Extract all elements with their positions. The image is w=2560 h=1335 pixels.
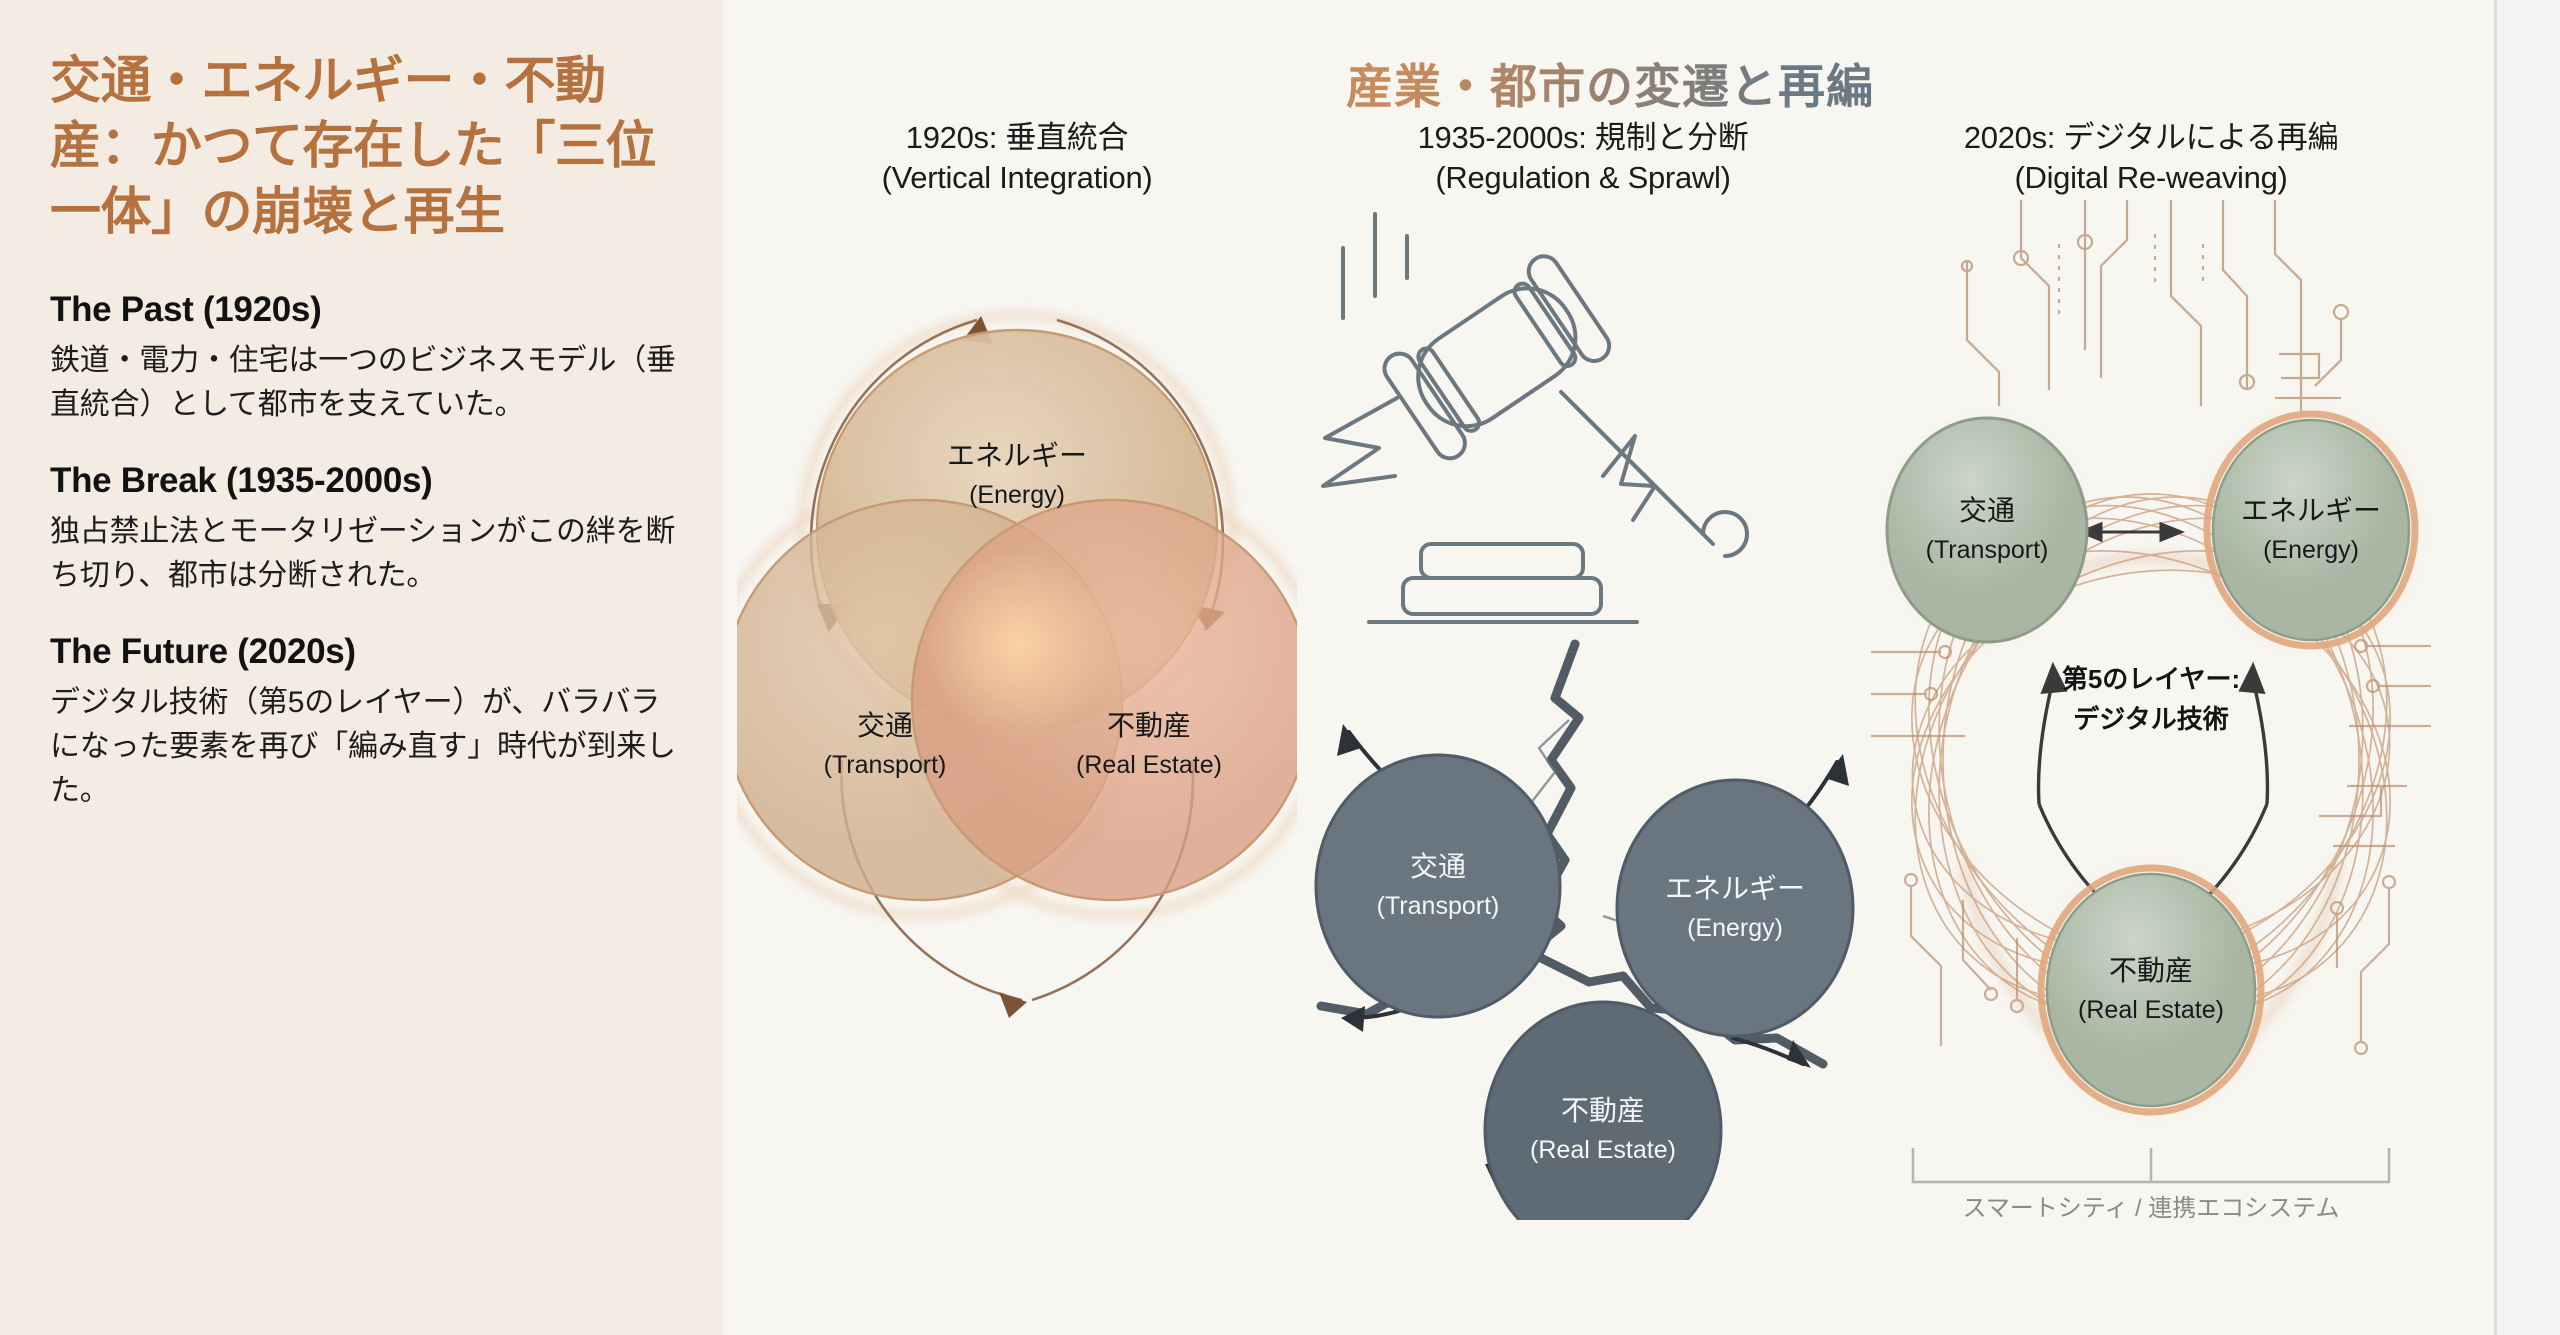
node-transport: 交通 (Transport)	[1316, 755, 1560, 1017]
node-transport-digital: 交通 (Transport)	[1875, 406, 2099, 654]
main-title: 産業・都市の変遷と再編	[723, 48, 2497, 117]
node-energy: エネルギー (Energy)	[1617, 780, 1853, 1036]
reweave-label-energy-ja: エネルギー	[2241, 495, 2381, 526]
column1-heading-en: (Vertical Integration)	[737, 158, 1297, 198]
slide-root: 交通・エネルギー・不動産：かつて存在した「三位一体」の崩壊と再生 The Pas…	[0, 0, 2497, 1335]
fracture-diagram: 交通 (Transport) エネルギー (Energy) 不動産 (Real …	[1303, 200, 1863, 1220]
fracture-label-transport-ja: 交通	[1410, 851, 1466, 882]
node-realestate-digital: 不動産 (Real Estate)	[2025, 852, 2277, 1128]
venn-label-energy-en: (Energy)	[969, 481, 1065, 509]
column2-heading-ja: 1935-2000s: 規制と分断	[1303, 118, 1863, 158]
fracture-label-transport-en: (Transport)	[1377, 892, 1500, 920]
fracture-label-realestate-en: (Real Estate)	[1530, 1136, 1676, 1164]
column3-heading-ja: 2020s: デジタルによる再編	[1871, 118, 2431, 158]
column-vertical-integration: 1920s: 垂直統合 (Vertical Integration)	[737, 118, 1297, 1298]
circuit-traces-icon	[1962, 200, 2348, 412]
main-panel: 産業・都市の変遷と再編 1920s: 垂直統合 (Vertical Integr…	[723, 0, 2497, 1335]
sidebar-block-future-body: デジタル技術（第5のレイヤー）が、バラバラになった要素を再び「編み直す」時代が到…	[50, 681, 681, 813]
venn-label-energy-ja: エネルギー	[947, 440, 1087, 471]
sidebar-block-break-heading: The Break (1935-2000s)	[50, 461, 681, 501]
venn-label-transport-ja: 交通	[857, 710, 913, 741]
fifth-layer-label-line2: デジタル技術	[2073, 704, 2228, 734]
sidebar-block-past-heading: The Past (1920s)	[50, 290, 681, 330]
venn-diagram: エネルギー (Energy) 交通 (Transport) 不動産 (Real …	[737, 200, 1297, 1220]
column1-heading: 1920s: 垂直統合 (Vertical Integration)	[737, 118, 1297, 197]
column3-heading-en: (Digital Re-weaving)	[1871, 158, 2431, 198]
reweave-label-realestate-en: (Real Estate)	[2078, 996, 2224, 1024]
venn-label-transport-en: (Transport)	[824, 751, 947, 779]
gavel-icon	[1323, 214, 1747, 622]
reweave-diagram: 交通 (Transport) エネルギー (Energy)	[1871, 200, 2431, 1220]
node-energy-digital: エネルギー (Energy)	[2191, 398, 2431, 662]
column3-heading: 2020s: デジタルによる再編 (Digital Re-weaving)	[1871, 118, 2431, 197]
column2-heading-en: (Regulation & Sprawl)	[1303, 158, 1863, 198]
sidebar-block-break: The Break (1935-2000s) 独占禁止法とモータリゼーションがこ…	[50, 461, 681, 598]
ecosystem-caption: スマートシティ / 連携エコシステム	[1962, 1195, 2339, 1220]
node-realestate: 不動産 (Real Estate)	[1485, 1002, 1721, 1220]
sidebar-title: 交通・エネルギー・不動産：かつて存在した「三位一体」の崩壊と再生	[50, 48, 681, 244]
column-digital-reweaving: 2020s: デジタルによる再編 (Digital Re-weaving)	[1871, 118, 2431, 1298]
column-regulation-sprawl: 1935-2000s: 規制と分断 (Regulation & Sprawl)	[1303, 118, 1863, 1298]
ecosystem-bracket	[1913, 1148, 2389, 1182]
fracture-label-realestate-ja: 不動産	[1561, 1095, 1645, 1126]
sidebar-block-future: The Future (2020s) デジタル技術（第5のレイヤー）が、バラバラ…	[50, 632, 681, 813]
fifth-layer-label-line1: 第5のレイヤー:	[2062, 664, 2240, 694]
reweave-label-realestate-ja: 不動産	[2109, 955, 2193, 986]
fracture-label-energy-ja: エネルギー	[1665, 873, 1805, 904]
fracture-label-energy-en: (Energy)	[1687, 914, 1783, 942]
sidebar-block-break-body: 独占禁止法とモータリゼーションがこの絆を断ち切り、都市は分断された。	[50, 510, 681, 598]
column2-heading: 1935-2000s: 規制と分断 (Regulation & Sprawl)	[1303, 118, 1863, 197]
reweave-label-transport-ja: 交通	[1959, 495, 2015, 526]
venn-label-realestate-en: (Real Estate)	[1076, 751, 1222, 779]
sidebar-block-future-heading: The Future (2020s)	[50, 632, 681, 672]
sidebar-block-past: The Past (1920s) 鉄道・電力・住宅は一つのビジネスモデル（垂直統…	[50, 290, 681, 427]
sidebar-block-past-body: 鉄道・電力・住宅は一つのビジネスモデル（垂直統合）として都市を支えていた。	[50, 339, 681, 427]
venn-label-realestate-ja: 不動産	[1107, 710, 1191, 741]
reweave-label-energy-en: (Energy)	[2263, 536, 2359, 564]
reweave-label-transport-en: (Transport)	[1926, 536, 2049, 564]
column1-heading-ja: 1920s: 垂直統合	[737, 118, 1297, 158]
sidebar: 交通・エネルギー・不動産：かつて存在した「三位一体」の崩壊と再生 The Pas…	[0, 0, 723, 1335]
